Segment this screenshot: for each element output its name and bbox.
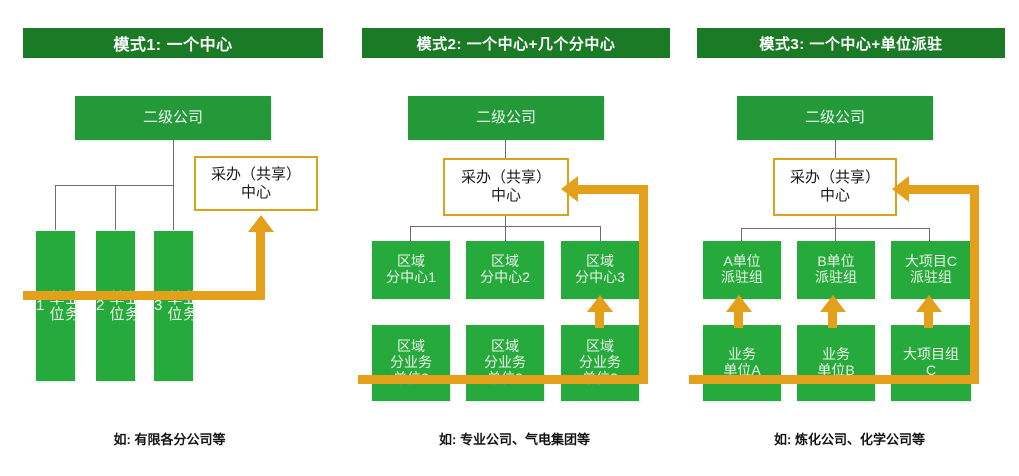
panel-3-mid-2-text: B单位派驻组 bbox=[815, 254, 857, 285]
panel-2-center-box: 采办（共享） 中心 bbox=[443, 158, 569, 216]
panel-3-connector-drop-3 bbox=[929, 228, 930, 242]
bot-3-line-2: 分业务 bbox=[579, 354, 621, 370]
panel-2-mid-2-text: 区域分中心2 bbox=[480, 254, 530, 285]
center-line-2: 中心 bbox=[241, 184, 271, 201]
panel-mode-3: 模式3: 一个中心+单位派驻 二级公司 采办（共享） 中心 A单位派驻组 B单位… bbox=[685, 0, 1014, 476]
panel-1-arrowhead-up bbox=[248, 215, 274, 232]
panel-3-mid-box-1: A单位派驻组 bbox=[703, 241, 781, 299]
mid-3-line-2: 分中心3 bbox=[575, 269, 625, 285]
panel-3-bottom-2-text: 业务单位B bbox=[817, 347, 854, 378]
panel-1-center-box: 采办（共享） 中心 bbox=[194, 156, 318, 211]
panel-3-bottom-box-1: 业务单位A bbox=[703, 325, 781, 401]
panel-3-flow-vertical-right bbox=[970, 185, 979, 380]
panel-2-top-box: 二级公司 bbox=[408, 96, 604, 140]
panel-2-mid-box-2: 区域分中心2 bbox=[466, 241, 544, 299]
panel-3-top-box: 二级公司 bbox=[737, 96, 933, 140]
panel-2-center-box-text: 采办（共享） 中心 bbox=[461, 169, 551, 205]
mid-2-line-2: 派驻组 bbox=[815, 269, 857, 285]
panel-2-arrowhead-up bbox=[587, 295, 613, 312]
mid-2-line-2: 分中心2 bbox=[480, 269, 530, 285]
panel-3-bottom-3-text: 大项目组C bbox=[903, 347, 959, 378]
panel-mode-2: 模式2: 一个中心+几个分中心 二级公司 采办（共享） 中心 区域分中心1 区域… bbox=[350, 0, 679, 476]
panel-3-flow-horizontal-return bbox=[909, 185, 975, 194]
panel-1-top-box: 二级公司 bbox=[75, 96, 271, 140]
panel-1-unit-box-3: 业务单位3 bbox=[154, 231, 193, 381]
bot-2-line-1: 区域 bbox=[491, 338, 519, 354]
mid-3-line-1: 区域 bbox=[586, 253, 614, 269]
panel-1-unit-box-2: 业务单位2 bbox=[96, 231, 135, 381]
panel-3-connector-drop-1 bbox=[741, 228, 742, 242]
panel-2-connector-stem-top bbox=[505, 140, 506, 158]
panel-3-arrowhead-up-2 bbox=[820, 295, 846, 312]
center-line-1: 采办（共享） bbox=[211, 166, 301, 183]
panel-3-mid-3-text: 大项目C派驻组 bbox=[905, 254, 957, 285]
panel-3-arrowhead-left bbox=[892, 176, 909, 202]
panel-3-banner: 模式3: 一个中心+单位派驻 bbox=[697, 28, 1005, 58]
panel-2-arrowhead-left bbox=[561, 176, 578, 202]
panel-1-caption: 如: 有限各分公司等 bbox=[5, 429, 334, 448]
panel-2-connector-drop-2 bbox=[505, 226, 506, 242]
center-line-2: 中心 bbox=[820, 187, 850, 204]
mid-1-line-2: 派驻组 bbox=[721, 269, 763, 285]
bot-1-line-1: 区域 bbox=[397, 338, 425, 354]
panel-2-bottom-box-3: 区域分业务单位3 bbox=[561, 325, 639, 401]
panel-3-bottom-box-3: 大项目组C bbox=[891, 325, 971, 401]
center-line-1: 采办（共享） bbox=[790, 169, 880, 186]
panel-3-mid-box-3: 大项目C派驻组 bbox=[891, 241, 971, 299]
panel-3-bottom-box-2: 业务单位B bbox=[797, 325, 875, 401]
panel-1-banner: 模式1: 一个中心 bbox=[23, 28, 323, 58]
panel-2-connector-drop-1 bbox=[410, 226, 411, 242]
panel-1-connector-stem bbox=[173, 140, 174, 185]
bot-1-line-2: 分业务 bbox=[390, 354, 432, 370]
bot-1-line-1: 业务 bbox=[728, 346, 756, 362]
bot-2-line-1: 业务 bbox=[822, 346, 850, 362]
panel-2-caption: 如: 专业公司、气电集团等 bbox=[350, 429, 679, 448]
center-line-1: 采办（共享） bbox=[461, 169, 551, 186]
panel-2-mid-3-text: 区域分中心3 bbox=[575, 254, 625, 285]
panel-3-bottom-1-text: 业务单位A bbox=[723, 347, 760, 378]
bot-3-line-1: 区域 bbox=[586, 338, 614, 354]
panel-2-connector-drop-3 bbox=[600, 226, 601, 242]
diagram-canvas: 模式1: 一个中心 二级公司 采办（共享） 中心 业务单位1 业务单位2 业务单… bbox=[0, 0, 1019, 476]
mid-2-line-1: 区域 bbox=[491, 253, 519, 269]
panel-1-center-box-text: 采办（共享） 中心 bbox=[211, 166, 301, 202]
panel-2-flow-horizontal-bottom bbox=[358, 375, 648, 384]
panel-mode-1: 模式1: 一个中心 二级公司 采办（共享） 中心 业务单位1 业务单位2 业务单… bbox=[5, 0, 334, 476]
panel-1-flow-vertical bbox=[256, 232, 265, 296]
mid-2-line-1: B单位 bbox=[817, 253, 854, 269]
panel-3-caption: 如: 炼化公司、化学公司等 bbox=[685, 429, 1014, 448]
panel-1-connector-drop-1 bbox=[55, 185, 56, 230]
panel-1-connector-drop-2 bbox=[115, 185, 116, 230]
panel-2-mid-box-3: 区域分中心3 bbox=[561, 241, 639, 299]
panel-3-connector-stem-top bbox=[835, 140, 836, 158]
mid-1-line-1: 区域 bbox=[397, 253, 425, 269]
panel-3-center-box-text: 采办（共享） 中心 bbox=[790, 169, 880, 205]
panel-1-unit-box-1: 业务单位1 bbox=[36, 231, 75, 381]
panel-2-banner: 模式2: 一个中心+几个分中心 bbox=[362, 28, 670, 58]
mid-1-line-1: A单位 bbox=[723, 253, 760, 269]
panel-2-flow-vertical-right bbox=[639, 185, 648, 380]
mid-3-line-2: 派驻组 bbox=[910, 269, 952, 285]
mid-3-line-1: 大项目C bbox=[905, 253, 957, 269]
panel-3-center-box: 采办（共享） 中心 bbox=[773, 158, 897, 216]
panel-1-flow-horizontal bbox=[23, 291, 265, 300]
panel-2-bottom-box-2: 区域分业务单位3 bbox=[466, 325, 544, 401]
panel-3-arrowhead-up-1 bbox=[726, 295, 752, 312]
panel-2-bottom-box-1: 区域分业务单位3 bbox=[372, 325, 450, 401]
bot-2-line-2: 分业务 bbox=[484, 354, 526, 370]
panel-3-connector-drop-2 bbox=[835, 228, 836, 242]
center-line-2: 中心 bbox=[491, 187, 521, 204]
panel-3-mid-1-text: A单位派驻组 bbox=[721, 254, 763, 285]
panel-3-mid-box-2: B单位派驻组 bbox=[797, 241, 875, 299]
panel-2-flow-horizontal-return bbox=[578, 185, 644, 194]
mid-1-line-2: 分中心1 bbox=[386, 269, 436, 285]
bot-3-line-1: 大项目组 bbox=[903, 346, 959, 362]
panel-2-mid-1-text: 区域分中心1 bbox=[386, 254, 436, 285]
panel-2-mid-box-1: 区域分中心1 bbox=[372, 241, 450, 299]
panel-3-flow-horizontal-bottom bbox=[689, 375, 979, 384]
panel-1-connector-drop-3 bbox=[173, 185, 174, 230]
panel-3-arrowhead-up-3 bbox=[916, 295, 942, 312]
